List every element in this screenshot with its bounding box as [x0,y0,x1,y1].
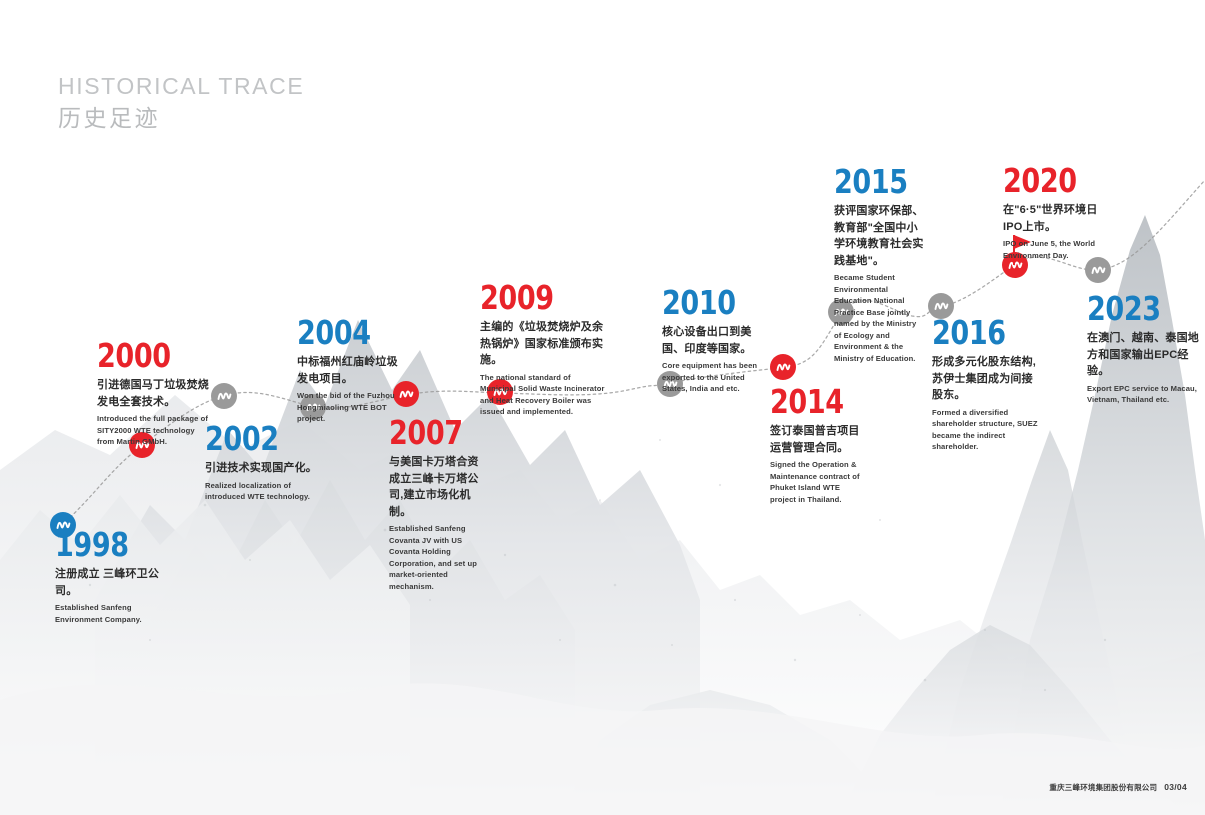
event-year: 2004 [297,316,383,349]
event-description-cn: 与美国卡万塔合资成立三峰卡万塔公司,建立市场化机制。 [389,454,481,520]
page-footer: 重庆三峰环境集团股份有限公司 03/04 [1049,782,1187,793]
event-description-cn: 注册成立 三峰环卫公司。 [55,566,167,599]
timeline-event-2020[interactable]: 2020 在"6·5"世界环境日IPO上市。 IPO on June 5, th… [1003,164,1099,261]
timeline-event-2010[interactable]: 2010 核心设备出口到美国、印度等国家。 Core equipment has… [662,286,760,395]
event-description-en: IPO on June 5, the World Environment Day… [1003,238,1099,261]
footer-page-number: 03/04 [1164,782,1187,792]
event-year: 2010 [662,286,742,319]
timeline-event-2015[interactable]: 2015 获评国家环保部、教育部"全国中小学环境教育社会实践基地"。 Becam… [834,165,924,364]
event-description-en: Established Sanfeng Covanta JV with US C… [389,523,481,592]
event-description-en: Core equipment has been exported to the … [662,360,760,395]
timeline-event-2009[interactable]: 2009 主编的《垃圾焚烧炉及余热锅炉》国家标准颁布实施。 The nation… [480,281,605,418]
event-description-en: Formed a diversified shareholder structu… [932,407,1040,453]
event-year: 2000 [97,339,189,372]
event-year: 2002 [205,422,305,455]
event-description-en: Signed the Operation & Maintenance contr… [770,459,862,505]
event-description-en: Won the bid of the Fuzhou Hongmiaoling W… [297,390,402,425]
timeline-event-2004[interactable]: 2004 中标福州红庙岭垃圾发电项目。 Won the bid of the F… [297,316,402,425]
event-description-cn: 在"6·5"世界环境日IPO上市。 [1003,202,1099,235]
event-description-cn: 主编的《垃圾焚烧炉及余热锅炉》国家标准颁布实施。 [480,319,605,369]
event-description-cn: 形成多元化股东结构,苏伊士集团成为间接股东。 [932,354,1040,404]
timeline-event-2014[interactable]: 2014 签订泰国普吉项目运营管理合同。 Signed the Operatio… [770,385,862,505]
page-title-en: HISTORICAL TRACE [58,72,304,101]
event-description-cn: 引进技术实现国产化。 [205,460,327,477]
timeline-event-2000[interactable]: 2000 引进德国马丁垃圾焚烧发电全套技术。 Introduced the fu… [97,339,209,448]
page-header: HISTORICAL TRACE 历史足迹 [58,72,304,134]
timeline-event-2007[interactable]: 2007 与美国卡万塔合资成立三峰卡万塔公司,建立市场化机制。 Establis… [389,416,481,592]
event-description-cn: 引进德国马丁垃圾焚烧发电全套技术。 [97,377,209,410]
event-year: 2016 [932,316,1021,349]
event-description-en: Introduced the full package of SITY2000 … [97,413,209,448]
event-description-en: The national standard of Municipal Solid… [480,372,605,418]
event-year: 2020 [1003,164,1082,197]
event-description-en: Established Sanfeng Environment Company. [55,602,167,625]
event-year: 2015 [834,165,908,198]
page-title-cn: 历史足迹 [58,104,304,134]
event-description-cn: 中标福州红庙岭垃圾发电项目。 [297,354,402,387]
event-description-cn: 在澳门、越南、泰国地方和国家输出EPC经验。 [1087,330,1200,380]
timeline-event-2002[interactable]: 2002 引进技术实现国产化。 Realized localization of… [205,422,327,503]
timeline-event-2016[interactable]: 2016 形成多元化股东结构,苏伊士集团成为间接股东。 Formed a div… [932,316,1040,453]
timeline-event-2023[interactable]: 2023 在澳门、越南、泰国地方和国家输出EPC经验。 Export EPC s… [1087,292,1200,406]
timeline-marker-2014[interactable] [770,354,796,380]
event-year: 2023 [1087,292,1180,325]
event-description-cn: 签订泰国普吉项目运营管理合同。 [770,423,862,456]
event-year: 2009 [480,281,583,314]
event-description-en: Became Student Environmental Education N… [834,272,924,364]
event-description-en: Realized localization of introduced WTE … [205,480,327,503]
wave-logo-icon [776,361,791,373]
wave-logo-icon [217,390,232,402]
timeline-marker-2002[interactable] [211,383,237,409]
event-description-en: Export EPC service to Macau, Vietnam, Th… [1087,383,1200,406]
event-year: 2007 [389,416,464,449]
wave-logo-icon [934,300,949,312]
event-description-cn: 获评国家环保部、教育部"全国中小学环境教育社会实践基地"。 [834,203,924,269]
event-year: 1998 [55,528,147,561]
event-year: 2014 [770,385,845,418]
footer-company-name: 重庆三峰环境集团股份有限公司 [1049,782,1157,793]
wave-logo-icon [1091,264,1106,276]
timeline-event-1998[interactable]: 1998 注册成立 三峰环卫公司。 Established Sanfeng En… [55,528,167,625]
event-description-cn: 核心设备出口到美国、印度等国家。 [662,324,760,357]
